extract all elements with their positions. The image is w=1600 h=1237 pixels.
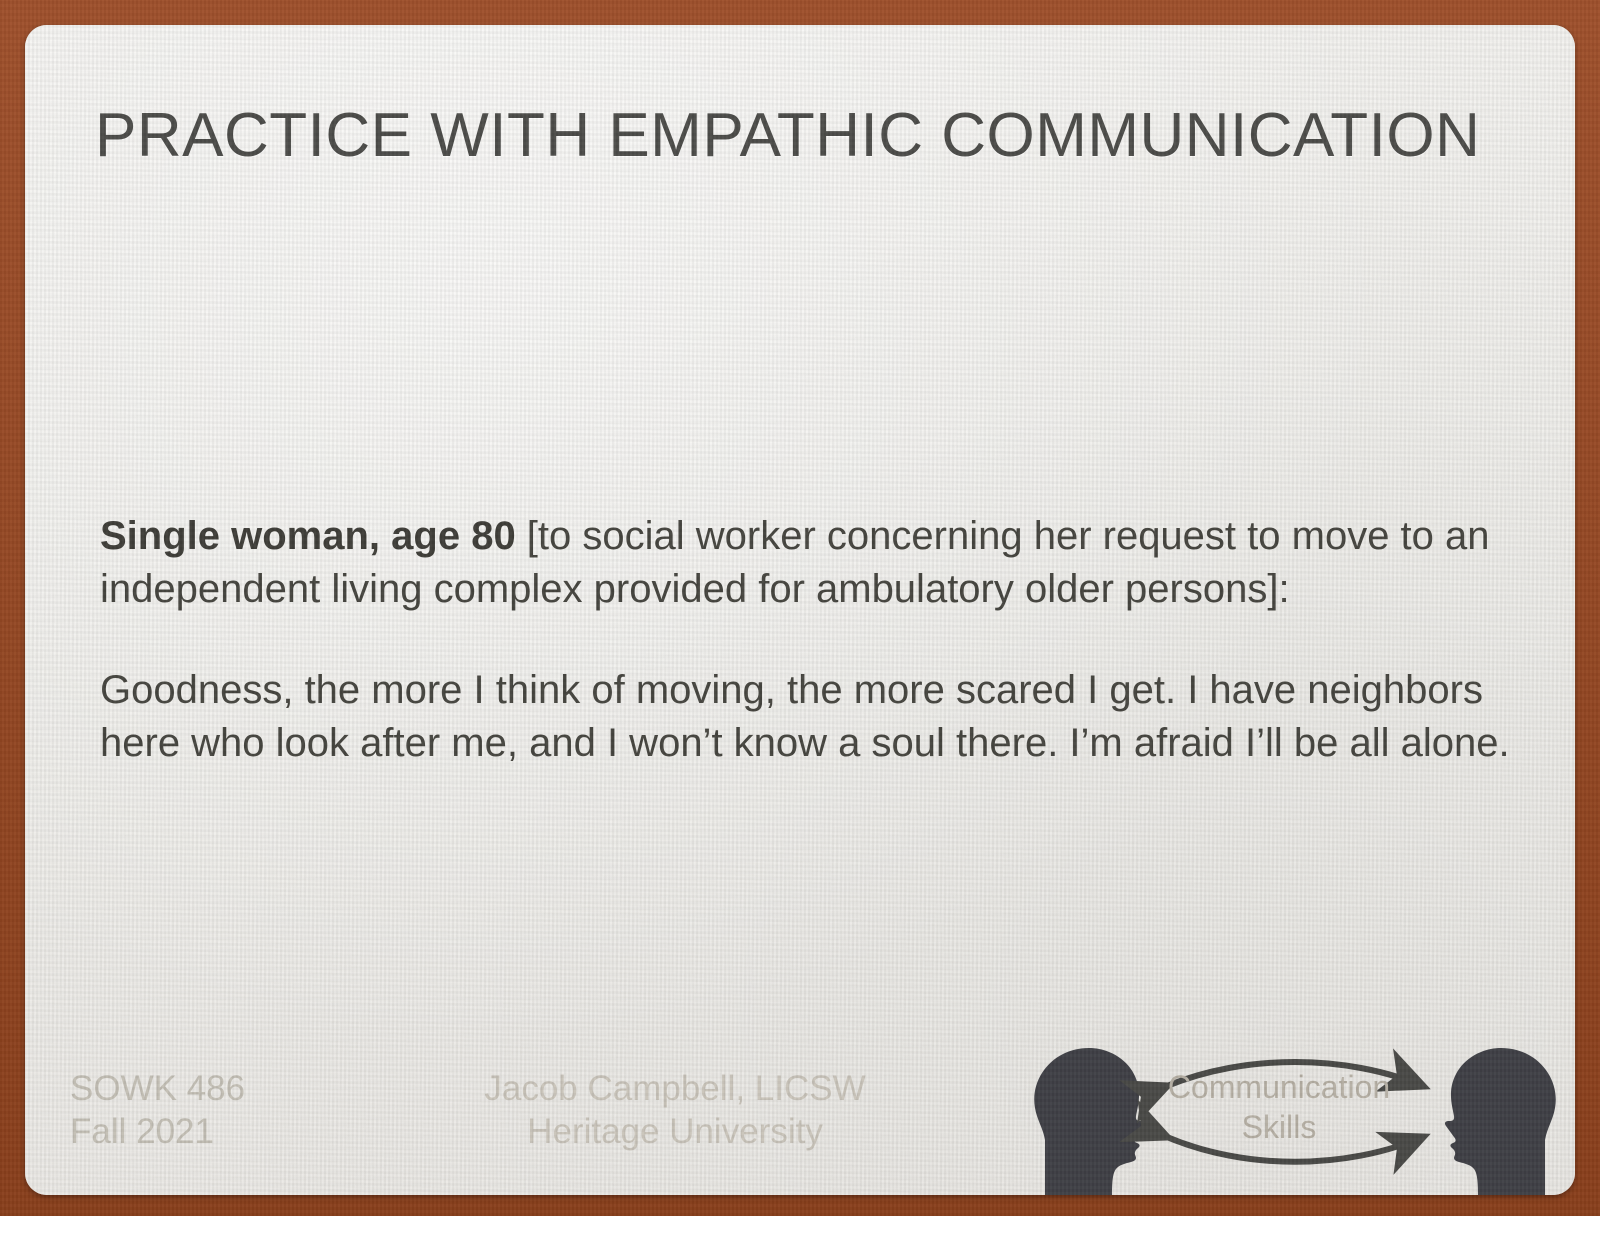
speaker-label: Single woman, age 80	[100, 514, 516, 558]
footer-institution: Heritage University	[355, 1110, 995, 1153]
footer-course-block: SOWK 486 Fall 2021	[70, 1067, 245, 1153]
slide-frame: PRACTICE WITH EMPATHIC COMMUNICATION Sin…	[0, 0, 1600, 1216]
slide-paper-panel: PRACTICE WITH EMPATHIC COMMUNICATION Sin…	[25, 25, 1575, 1195]
head-silhouette-right-icon	[1445, 1048, 1556, 1195]
double-arrow-bottom-icon	[1167, 1137, 1423, 1162]
communication-skills-graphic	[1015, 1020, 1575, 1195]
footer-course-code: SOWK 486	[70, 1067, 245, 1110]
footer-term: Fall 2021	[70, 1110, 245, 1153]
footer-presenter: Jacob Campbell, LICSW	[355, 1067, 995, 1110]
slide-title: PRACTICE WITH EMPATHIC COMMUNICATION	[95, 103, 1515, 170]
body-paragraph-2: Goodness, the more I think of moving, th…	[100, 664, 1520, 770]
body-paragraph-1: Single woman, age 80 [to social worker c…	[100, 510, 1520, 616]
double-arrow-top-icon	[1167, 1062, 1423, 1086]
paragraph-spacer	[100, 616, 1520, 664]
footer-presenter-block: Jacob Campbell, LICSW Heritage Universit…	[355, 1067, 995, 1153]
head-silhouette-left-icon	[1034, 1048, 1145, 1195]
slide-body: Single woman, age 80 [to social worker c…	[100, 510, 1520, 770]
